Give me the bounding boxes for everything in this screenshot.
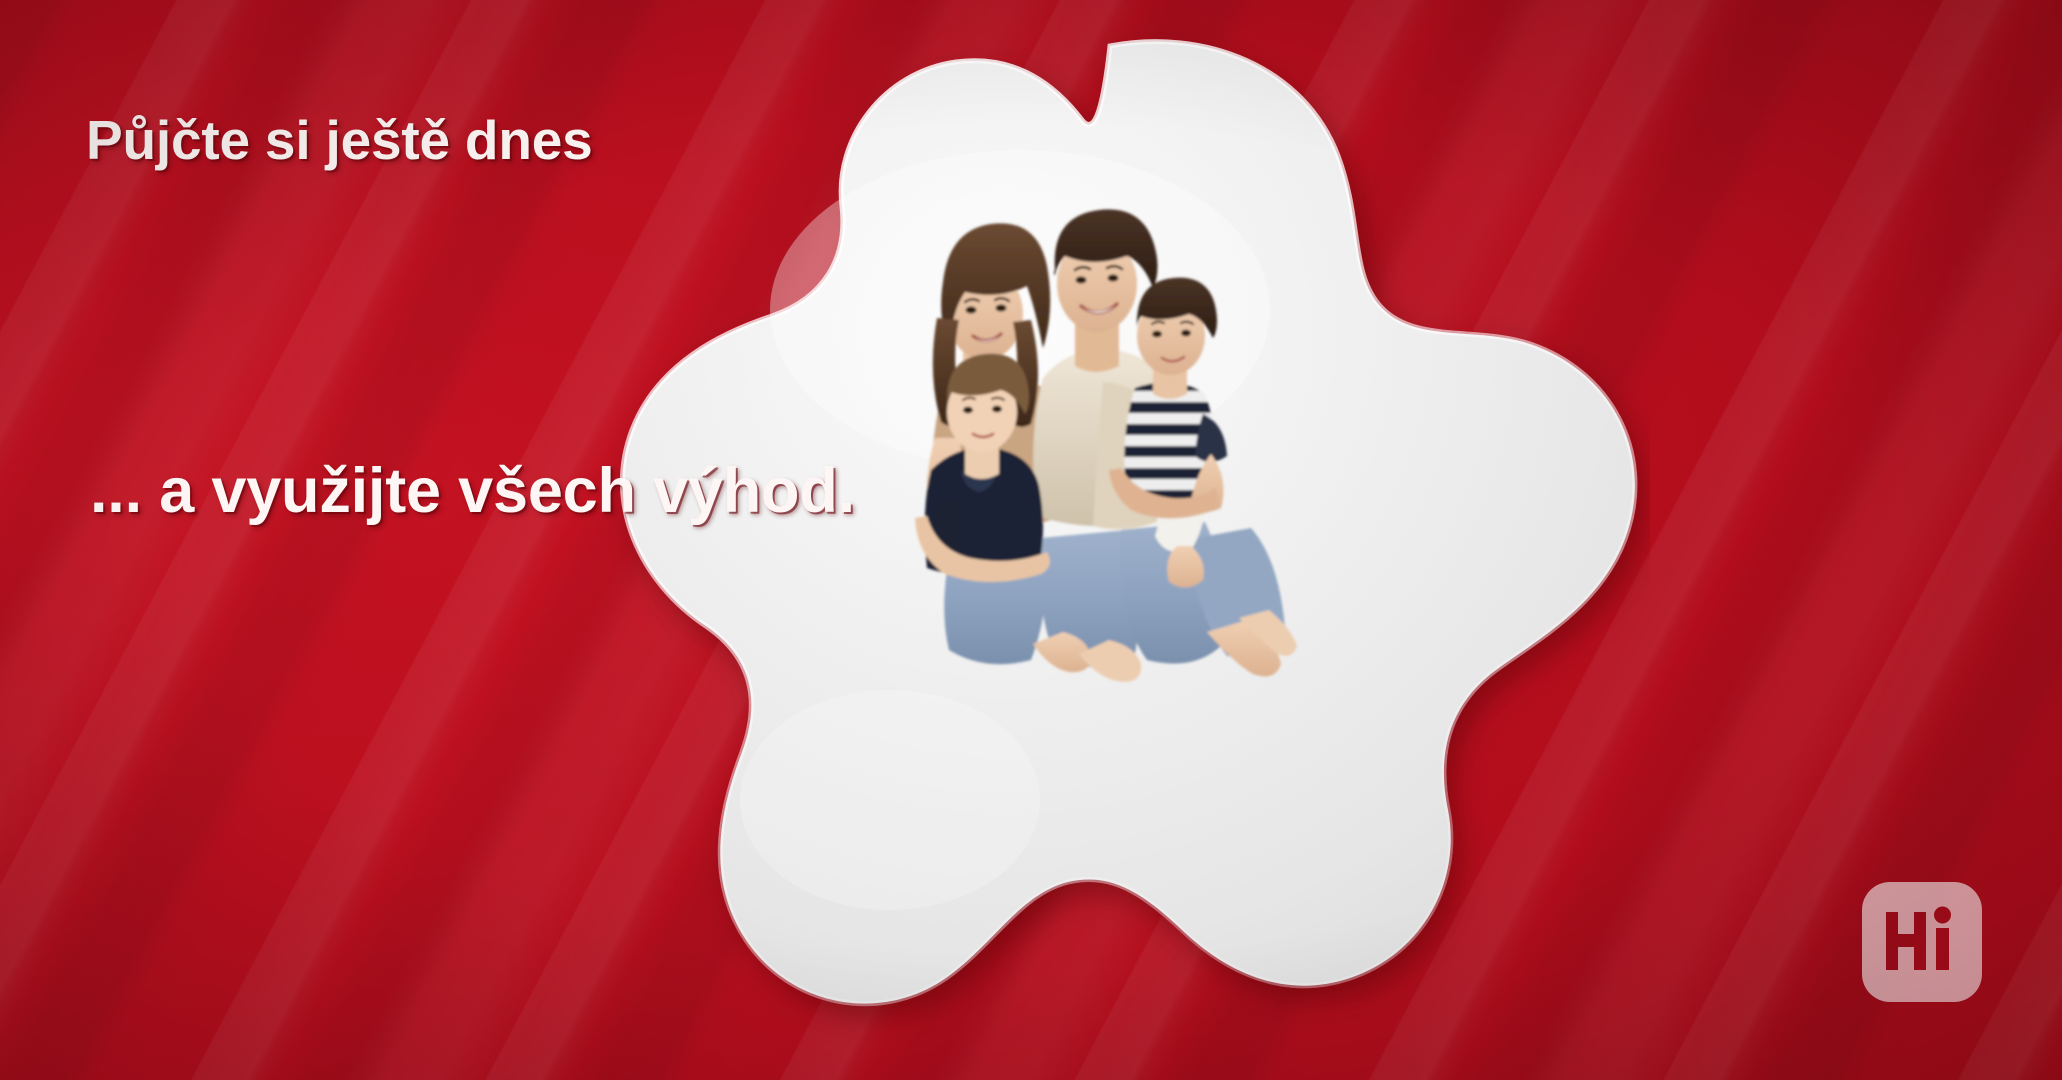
banner-canvas: Půjčte si ještě dnes ... a využijte všec…: [0, 0, 2062, 1080]
headline-secondary: ... a využijte všech výhod.: [90, 455, 855, 527]
hi-logo-watermark: [1862, 882, 1982, 1002]
headline-primary: Půjčte si ještě dnes: [86, 108, 593, 172]
family-portrait-photo: [835, 170, 1305, 700]
